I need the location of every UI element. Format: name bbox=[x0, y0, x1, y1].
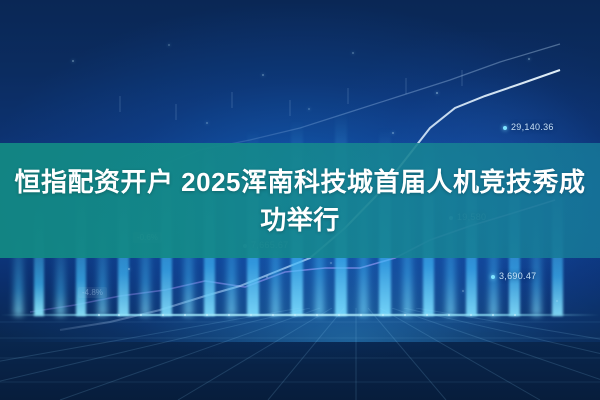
percent-label-blue: -4.8% bbox=[78, 287, 107, 298]
floor-horizon-line bbox=[0, 314, 600, 316]
headline-band: 恒指配资开户 2025浑南科技城首届人机竞技秀成功举行 bbox=[0, 143, 600, 258]
data-label-3690: 3,690.47 bbox=[491, 271, 536, 281]
banner-image: 29,140.36 19,580 3,690.47 7,665.67 -0.6%… bbox=[0, 0, 600, 400]
page-title: 恒指配资开户 2025浑南科技城首届人机竞技秀成功举行 bbox=[0, 163, 600, 239]
perspective-grid-floor bbox=[0, 308, 600, 400]
data-label-29140: 29,140.36 bbox=[503, 122, 554, 132]
